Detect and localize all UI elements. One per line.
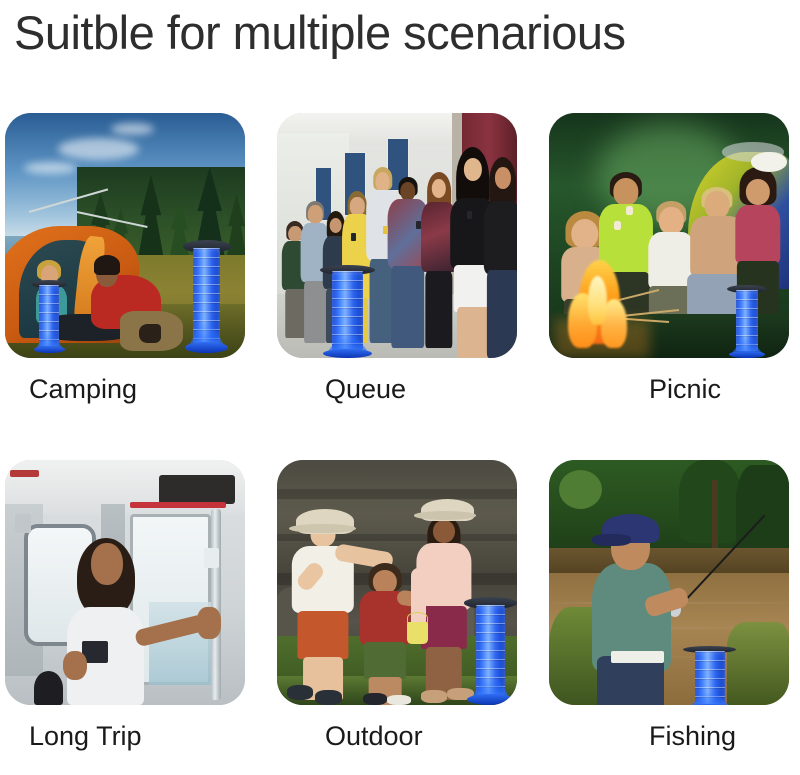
outdoor-scene	[277, 460, 517, 705]
pole-bracket	[204, 548, 218, 568]
bucket-handle	[407, 612, 429, 624]
scenario-image-picnic[interactable]	[549, 113, 789, 358]
cloud	[111, 123, 154, 135]
person-hair	[94, 255, 120, 275]
person-hand	[63, 651, 87, 680]
scenario-caption-fishing: Fishing	[549, 719, 789, 753]
infographic-page: Suitble for multiple scenarious	[0, 0, 800, 775]
person-head	[91, 543, 122, 585]
smartphone	[351, 233, 356, 241]
person-child	[359, 563, 412, 705]
collapsible-stool	[31, 280, 67, 354]
scenario-cell-fishing[interactable]: Fishing	[549, 460, 789, 753]
person-adult	[291, 514, 353, 700]
scenario-caption-long-trip: Long Trip	[5, 719, 245, 753]
train-scene	[5, 460, 245, 705]
emergency-strip	[10, 470, 39, 477]
queue-scene	[277, 113, 517, 358]
panel-latch	[15, 514, 32, 534]
scenario-caption-picnic: Picnic	[549, 372, 789, 406]
scenario-caption-camping: Camping	[5, 372, 245, 406]
scenario-cell-long-trip[interactable]: Long Trip	[5, 460, 245, 753]
red-stripe	[130, 502, 226, 508]
shirt-tag	[611, 651, 664, 663]
scenario-caption-outdoor: Outdoor	[277, 719, 517, 753]
scenario-cell-queue[interactable]: Queue	[277, 113, 517, 406]
fire-glow	[554, 319, 650, 358]
scenario-cell-outdoor[interactable]: Outdoor	[277, 460, 517, 753]
overhead-sign	[159, 475, 236, 504]
fishing-scene	[549, 460, 789, 705]
rock-strata	[277, 489, 517, 499]
smartphone	[467, 211, 472, 219]
marshmallow	[614, 221, 621, 230]
scenario-cell-picnic[interactable]: Picnic	[549, 113, 789, 406]
cap-brim	[592, 534, 630, 546]
collapsible-stool	[183, 240, 231, 353]
person	[483, 157, 517, 358]
bucket	[407, 622, 429, 644]
collapsible-stool	[683, 646, 736, 705]
camping-scene	[5, 113, 245, 358]
scenario-cell-camping[interactable]: Camping	[5, 113, 245, 406]
shoe	[315, 690, 341, 705]
person-jeans	[597, 656, 664, 705]
shoe	[363, 693, 387, 705]
foliage	[679, 460, 741, 543]
bag-strap	[34, 671, 63, 705]
collapsible-stool	[464, 597, 517, 705]
cloud	[58, 138, 140, 160]
scenario-image-outdoor[interactable]	[277, 460, 517, 705]
foliage	[559, 470, 602, 509]
grab-pole	[211, 509, 221, 700]
scenario-caption-queue: Queue	[277, 372, 517, 406]
boot	[139, 324, 161, 344]
tree-trunk	[712, 480, 718, 558]
sandal	[421, 690, 447, 702]
scenario-image-camping[interactable]	[5, 113, 245, 358]
scenario-image-fishing[interactable]	[549, 460, 789, 705]
scenario-image-long-trip[interactable]	[5, 460, 245, 705]
scenario-grid: Camping	[0, 0, 800, 775]
marshmallow	[626, 206, 633, 215]
collapsible-stool	[727, 285, 768, 359]
headband	[751, 152, 787, 172]
shoe	[287, 685, 313, 700]
person-hand	[197, 607, 221, 639]
picnic-scene	[549, 113, 789, 358]
hat-brim	[414, 511, 476, 520]
smartphone	[416, 221, 421, 229]
scenario-image-queue[interactable]	[277, 113, 517, 358]
smartphone	[383, 226, 388, 234]
collapsible-stool	[320, 265, 375, 358]
shoe	[387, 695, 411, 705]
